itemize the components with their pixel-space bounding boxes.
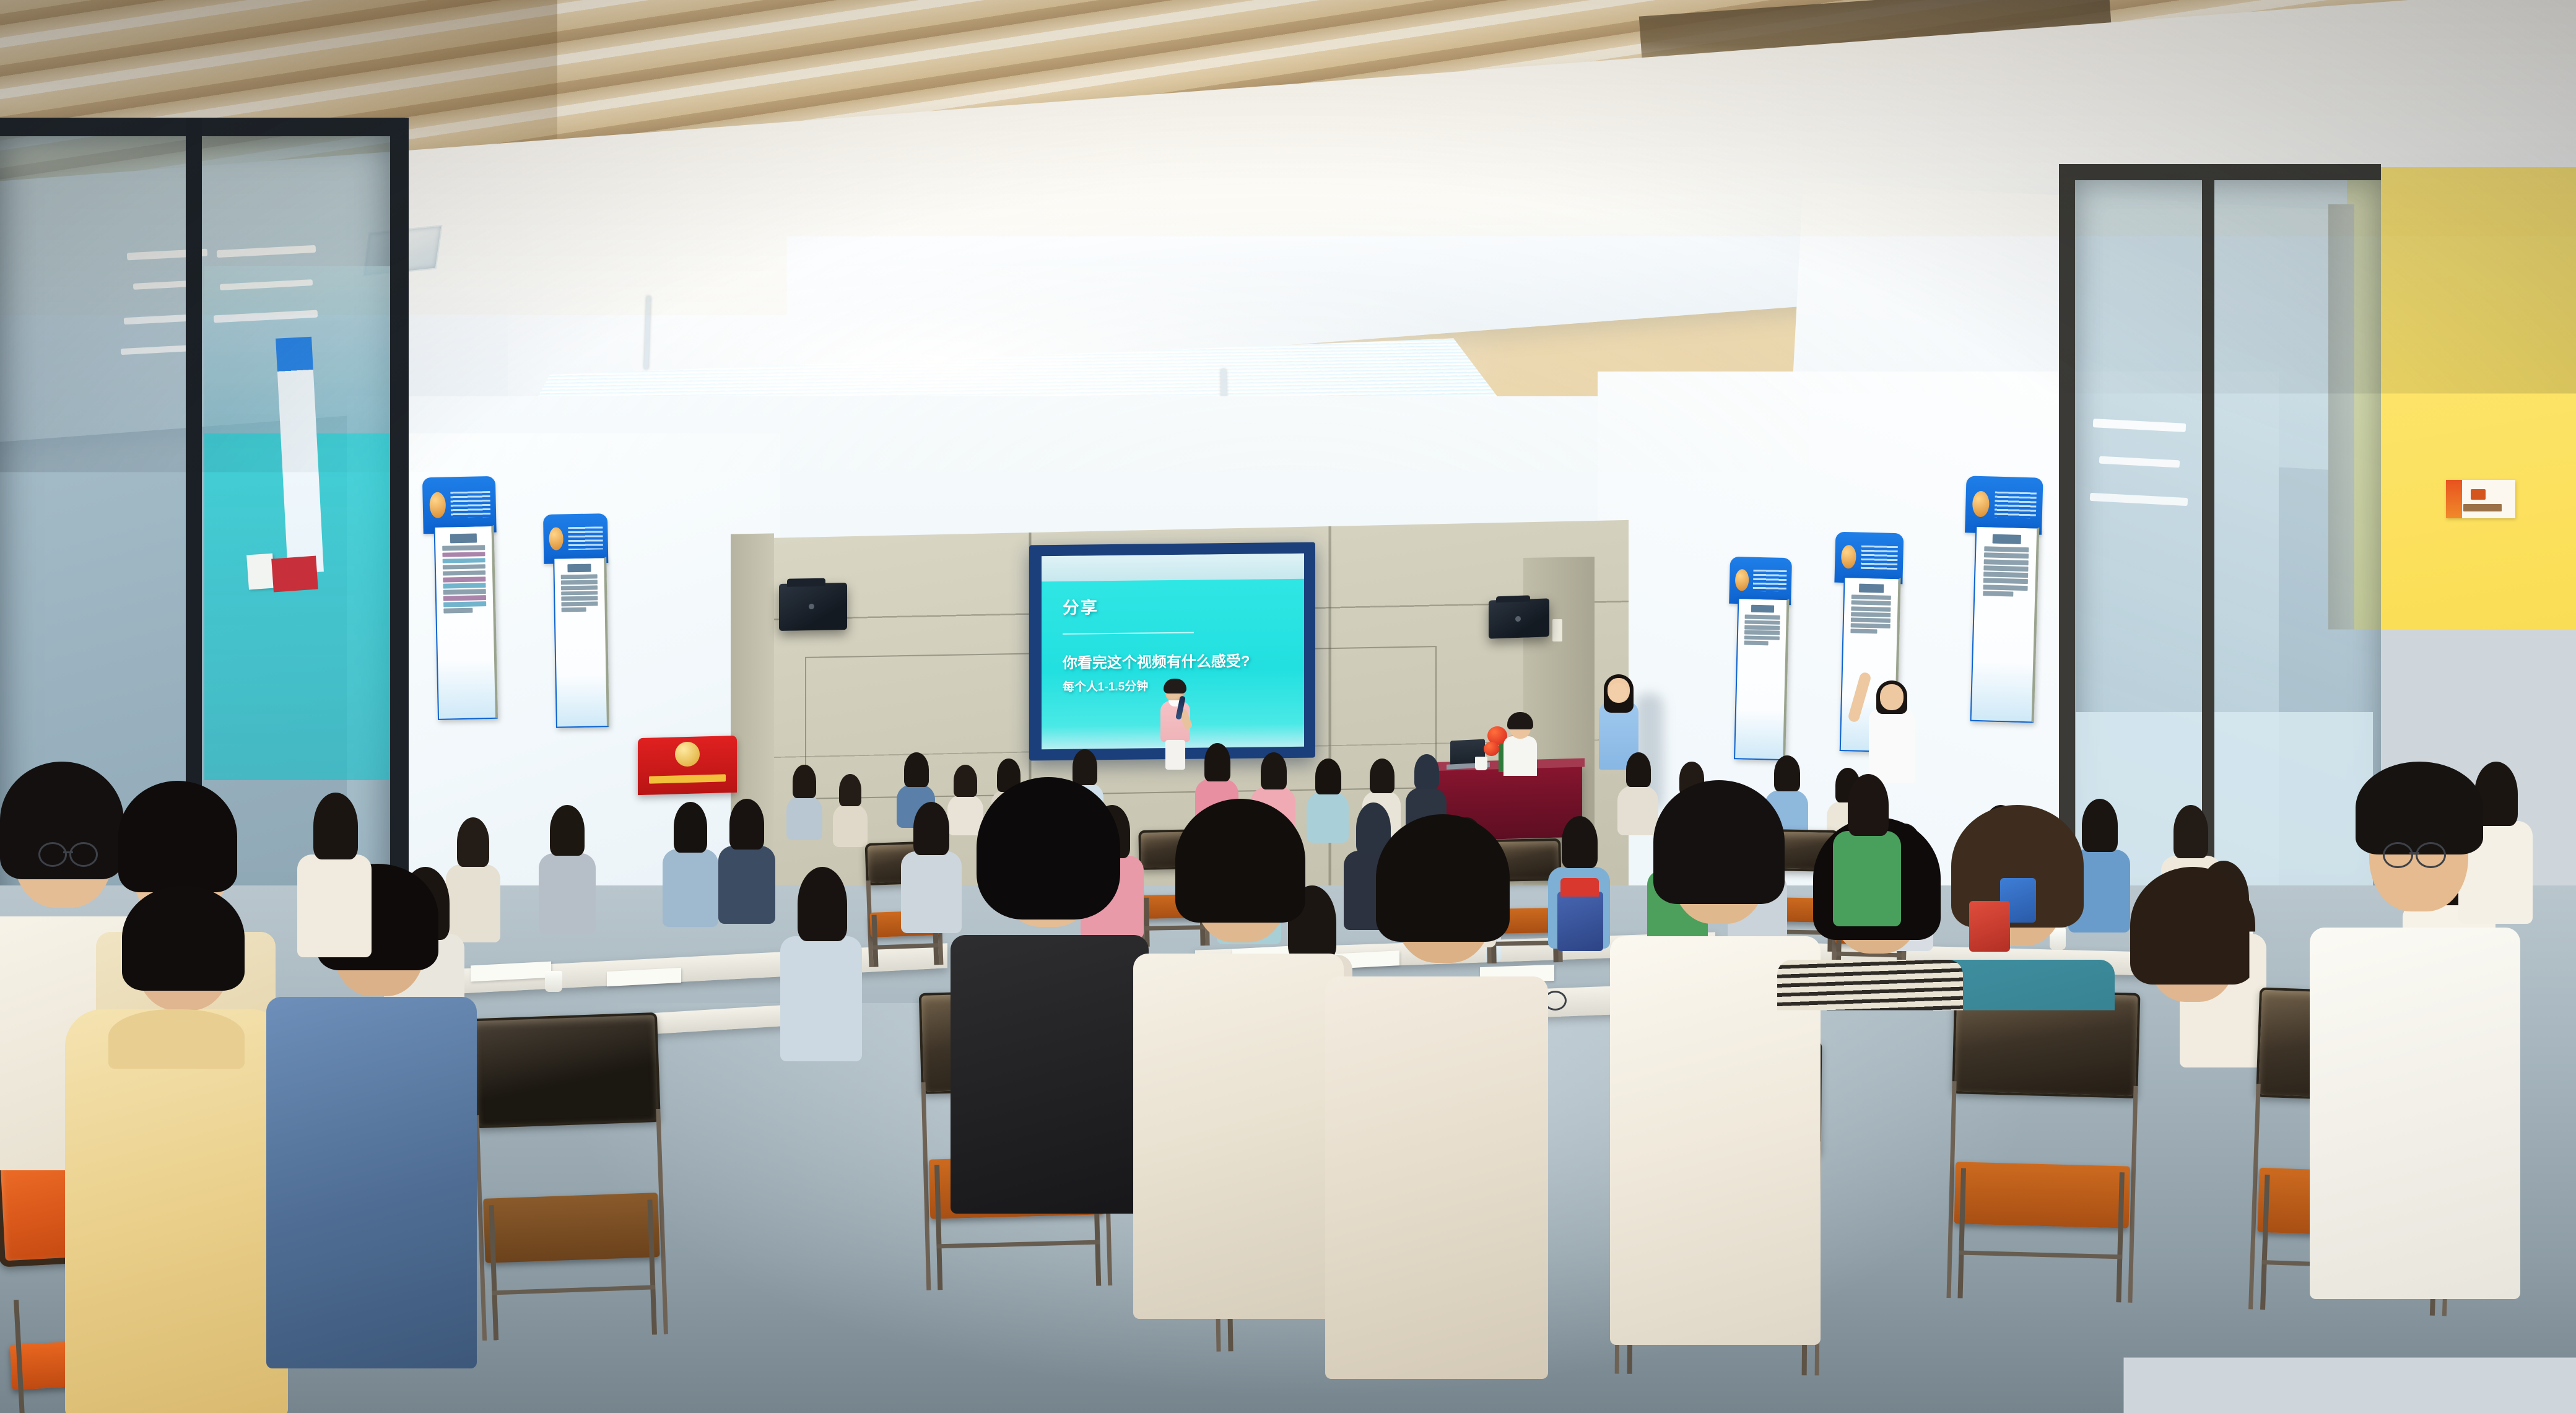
- slide-question: 你看完这个视频有什么感受?: [1063, 649, 1250, 672]
- foreground-attendee: [65, 885, 288, 1413]
- emblem-icon: [1735, 569, 1749, 591]
- wall-sign-left-1: [422, 476, 500, 723]
- seated-host: [1501, 715, 1539, 777]
- red-flower: [1484, 742, 1499, 756]
- slide-divider: [1063, 632, 1194, 634]
- glass-mullion-right: [2202, 164, 2214, 913]
- presenter-hair: [1164, 679, 1186, 693]
- emblem-icon: [1841, 545, 1856, 568]
- seated-host-torso: [1503, 736, 1537, 776]
- foreground-attendee: [2093, 867, 2279, 1350]
- glass-reflected-card: [246, 554, 275, 590]
- eyeglasses: [2383, 842, 2446, 864]
- emblem-icon: [1972, 491, 1990, 518]
- seminar-room-photo: 分享 你看完这个视频有什么感受? 每个人1-1.5分钟: [0, 0, 2576, 1413]
- sign-cap-bars: [568, 526, 603, 550]
- audience-member: [833, 774, 868, 846]
- hood: [108, 1009, 245, 1069]
- audience-member: [786, 765, 822, 839]
- backpack-top: [1560, 878, 1599, 897]
- backpack: [1557, 892, 1603, 951]
- audience-member: [663, 802, 718, 926]
- presenter: [1157, 681, 1194, 768]
- notice-sign-badge-icon: [2446, 480, 2462, 518]
- slide-heading: 分享: [1063, 594, 1099, 619]
- sign-cap-bars: [1753, 569, 1787, 591]
- wall-sign-sheet: [1734, 598, 1789, 760]
- paper-cup: [1475, 757, 1487, 770]
- paper-cup: [545, 971, 562, 992]
- wall-speaker-right: [1489, 598, 1549, 638]
- wall-sign-right-3: [1959, 476, 2043, 725]
- foreground-attendee: [951, 777, 1149, 1211]
- light-switch[interactable]: [1552, 619, 1562, 641]
- audience-member: [297, 793, 372, 954]
- notice-sign-glyph: [2471, 489, 2486, 500]
- emblem-icon: [429, 492, 446, 518]
- eyeglasses: [38, 842, 98, 863]
- sign-cap-bars: [450, 491, 490, 518]
- audience-member: [780, 867, 862, 1059]
- presenter-legs: [1165, 740, 1185, 770]
- foreground-attendee: [1133, 799, 1344, 1313]
- glass-reflected-card-red: [271, 556, 318, 593]
- wall-sign-left-2: [543, 513, 611, 730]
- wall-speaker-left: [779, 583, 847, 631]
- wall-sign-sheet: [553, 557, 609, 728]
- foreground-attendee: [2310, 762, 2520, 1294]
- audience-member: [718, 799, 775, 923]
- emblem-icon: [549, 527, 564, 550]
- seated-host-hair: [1507, 712, 1533, 729]
- screen-top-band: [1042, 554, 1304, 581]
- tote-bag: [1969, 901, 2010, 952]
- slide-subtext: 每个人1-1.5分钟: [1063, 677, 1148, 694]
- wall-sign-sheet: [1970, 526, 2040, 723]
- raiser-head: [1880, 684, 1904, 710]
- participant-raising-hand: [1864, 666, 1920, 789]
- sign-cap-bars: [1861, 546, 1898, 570]
- sign-cap-bars: [1995, 492, 2037, 519]
- foreground-attendee: [1325, 814, 1548, 1372]
- notice-sign-caption: [2463, 504, 2502, 511]
- facilitator-face: [1609, 683, 1627, 702]
- audience-member: [539, 805, 596, 933]
- audience-member: [1833, 774, 1901, 923]
- folding-chair[interactable]: [471, 1012, 668, 1341]
- wall-sign-right-1: [1725, 557, 1792, 762]
- plaque-emblem-icon: [675, 742, 700, 767]
- raiser-torso: [1869, 709, 1915, 783]
- wall-sign-sheet: [433, 525, 498, 720]
